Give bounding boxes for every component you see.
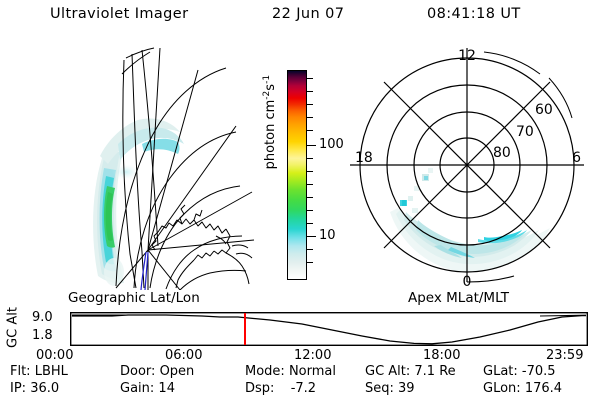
colorbar-minor-tick — [306, 171, 313, 172]
colorbar-unit-exp1: -2 — [262, 91, 272, 100]
status-seq-value: 39 — [398, 381, 415, 396]
orbit-x-tick-0000: 00:00 — [36, 348, 73, 363]
colorbar-major-tick-100 — [306, 145, 316, 146]
status-glon: GLon: 176.4 — [483, 381, 562, 396]
status-dsp: Dsp: -7.2 — [245, 381, 316, 396]
colorbar-minor-tick — [306, 184, 313, 185]
current-time-marker — [244, 313, 246, 345]
orbit-x-tick-1800: 18:00 — [423, 348, 460, 363]
status-dsp-label: Dsp: — [245, 381, 274, 396]
colorbar-minor-tick — [306, 78, 313, 79]
colorbar-minor-tick — [306, 223, 313, 224]
colorbar-minor-tick — [306, 104, 313, 105]
colorbar-minor-tick — [306, 130, 313, 131]
latitude-graticule — [116, 68, 246, 290]
status-mode: Mode: Normal — [245, 364, 336, 379]
apex-panel-caption: Apex MLat/MLT — [408, 290, 509, 306]
svg-text:0: 0 — [463, 274, 472, 290]
instrument-title: Ultraviolet Imager — [50, 6, 188, 22]
colorbar-group: photon cm-2s-1 100 10 — [256, 60, 336, 290]
colorbar-axis-label: photon cm-2s-1 — [262, 52, 278, 192]
svg-text:80: 80 — [493, 145, 511, 161]
colorbar-minor-tick — [306, 197, 313, 198]
colorbar-minor-tick — [306, 210, 313, 211]
status-flt-value: LBHL — [35, 364, 68, 379]
colorbar-minor-tick — [306, 91, 313, 92]
orbit-altitude-strip[interactable]: GC Alt 9.0 1.8 00:00 06:00 12:00 18:00 2… — [0, 308, 600, 360]
status-ip: IP: 36.0 — [10, 381, 59, 396]
status-flt: Flt: LBHL — [10, 364, 68, 379]
svg-text:60: 60 — [535, 102, 553, 118]
status-ip-value: 36.0 — [30, 381, 59, 396]
polar-dial: 12 6 0 18 60 70 80 — [338, 40, 596, 290]
svg-text:6: 6 — [572, 150, 581, 166]
colorbar-unit-exp2: -1 — [262, 75, 272, 84]
colorbar-unit-main: photon cm — [263, 100, 278, 170]
status-ip-label: IP: — [10, 381, 26, 396]
status-door-value: Open — [160, 364, 195, 379]
geographic-image-panel[interactable] — [30, 40, 260, 290]
geographic-panel-caption: Geographic Lat/Lon — [68, 290, 200, 306]
status-glat: GLat: -70.5 — [483, 364, 556, 379]
colorbar-major-tick-10 — [306, 236, 316, 237]
colorbar-minor-tick — [306, 158, 313, 159]
apex-mlt-polar-panel[interactable]: 12 6 0 18 60 70 80 — [338, 40, 596, 290]
orbit-altitude-plot[interactable] — [70, 312, 588, 346]
status-flt-label: Flt: — [10, 364, 31, 379]
observation-time: 08:41:18 UT — [427, 6, 521, 22]
status-door: Door: Open — [120, 364, 194, 379]
status-glon-label: GLon: — [483, 381, 521, 396]
status-seq: Seq: 39 — [365, 381, 415, 396]
colorbar-minor-tick — [306, 117, 313, 118]
status-door-label: Door: — [120, 364, 155, 379]
status-dsp-value: -7.2 — [291, 381, 316, 396]
status-glat-label: GLat: — [483, 364, 518, 379]
orbit-x-tick-0600: 06:00 — [165, 348, 202, 363]
aurora-emission-apex — [390, 168, 550, 273]
status-seq-label: Seq: — [365, 381, 394, 396]
mlt-spokes — [350, 48, 584, 282]
orbit-x-tick-2359: 23:59 — [546, 348, 583, 363]
limb-outline — [122, 48, 154, 74]
status-footer: Flt: LBHL Door: Open Mode: Normal GC Alt… — [0, 364, 600, 398]
status-gain-value: 14 — [158, 381, 175, 396]
colorbar-minor-tick — [306, 262, 313, 263]
status-mode-value: Normal — [289, 364, 336, 379]
geographic-projection — [30, 40, 260, 290]
status-gain-label: Gain: — [120, 381, 154, 396]
status-gcalt: GC Alt: 7.1 Re — [365, 364, 456, 379]
status-gcalt-value: 7.1 Re — [414, 364, 455, 379]
orbit-altitude-curve — [70, 312, 588, 346]
colorbar-minor-tick — [306, 249, 313, 250]
altitude-profile-line — [72, 315, 586, 344]
orbit-y-tick-high: 9.0 — [32, 310, 53, 325]
status-mode-label: Mode: — [245, 364, 285, 379]
status-glon-value: 176.4 — [525, 381, 562, 396]
longitude-graticule — [116, 48, 254, 290]
status-gain: Gain: 14 — [120, 381, 175, 396]
colorbar-tick-label-10: 10 — [319, 229, 336, 242]
svg-text:12: 12 — [458, 48, 476, 64]
colorbar-unit-mid: s — [263, 84, 278, 91]
colorbar-gradient — [287, 70, 307, 280]
svg-text:70: 70 — [516, 124, 534, 140]
observation-date: 22 Jun 07 — [272, 6, 344, 22]
orbit-x-tick-1200: 12:00 — [294, 348, 331, 363]
header-bar: Ultraviolet Imager 22 Jun 07 08:41:18 UT — [0, 6, 600, 30]
orbit-y-axis-label: GC Alt — [6, 299, 21, 357]
status-gcalt-label: GC Alt: — [365, 364, 410, 379]
uvi-display: Ultraviolet Imager 22 Jun 07 08:41:18 UT — [0, 0, 600, 400]
orbit-y-tick-low: 1.8 — [32, 328, 53, 343]
svg-text:18: 18 — [355, 150, 373, 166]
status-glat-value: -70.5 — [522, 364, 556, 379]
